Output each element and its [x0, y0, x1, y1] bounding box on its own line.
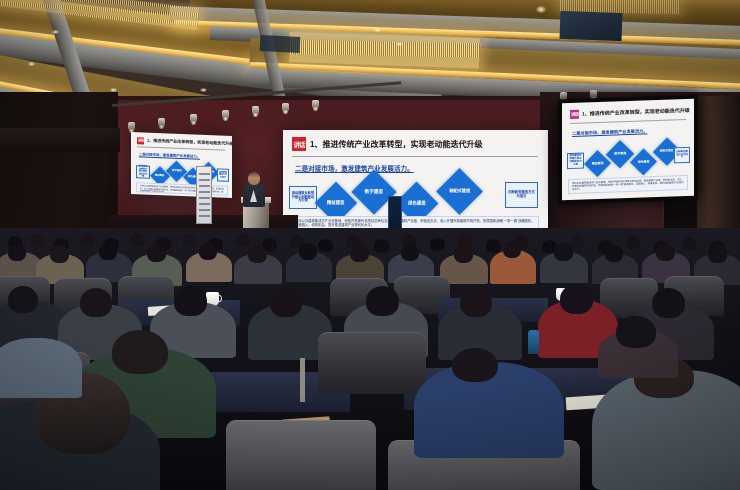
downlight: [536, 6, 546, 13]
slide-subtitle: 二是对接市场，激发建筑产业发展活力。: [295, 163, 414, 173]
slide-badge: 讲话: [292, 137, 306, 151]
conference-hall-photo: 讲话 1、推进传统产业改革转型，实现老动能迭代升级 二是对接市场，激发建筑产业发…: [0, 0, 740, 490]
downlight: [374, 28, 381, 32]
slide-note: 坚持以办建筑集成式产业化基地、积极开拓现代化项目总承包业务、做全建筑产业链、积极…: [568, 175, 688, 194]
downlight: [396, 42, 403, 46]
slide-left-box: 推动建筑业转型升级以创新驱动为引领: [289, 186, 317, 209]
spotlight: [282, 103, 289, 112]
spotlight: [158, 118, 165, 127]
ceiling-vent-panel: [560, 11, 623, 41]
water-bottle: [528, 330, 539, 354]
main-projection-screen: 讲话 1、推进传统产业改革转型，实现老动能迭代升级 二是对接市场，激发建筑产业发…: [283, 130, 548, 238]
slide-badge: 讲话: [137, 137, 144, 144]
slide-title: 1、推进传统产业改革转型，实现老动能迭代升级: [310, 139, 482, 150]
speaker-head: [248, 172, 260, 185]
attendee-head: [112, 330, 168, 374]
left-wall-trim: [0, 128, 120, 152]
slide-subtitle: 二是对接市场，激发建筑产业发展活力。: [139, 151, 200, 158]
side-banner: [196, 166, 212, 224]
slide-right-box: 四种新型建造方式为指引: [674, 147, 690, 164]
spotlight: [312, 100, 319, 109]
slide-diamond-2: 数字建造: [606, 140, 634, 168]
slide-divider: [570, 119, 686, 124]
slide-left-box: 推动建筑业转型升级以创新驱动为引领: [567, 153, 584, 170]
slide-badge: 讲话: [570, 110, 579, 119]
spotlight: [252, 106, 259, 115]
downlight: [52, 30, 59, 34]
slide-right-box: 四种新型建造方式为指引: [505, 182, 538, 208]
left-projection-screen: 讲话 1、推进传统产业改革转型，实现老动能迭代升级 二是对接市场，激发建筑产业发…: [131, 132, 232, 198]
slide-right-box: 四种新型建造方式为指引: [217, 168, 229, 181]
spotlight: [222, 110, 229, 119]
slide-title: 1、推进传统产业改革转型，实现老动能迭代升级: [582, 107, 690, 118]
slide-diamond-4: 装配式建造: [436, 168, 483, 215]
slide-divider: [292, 156, 538, 157]
attendee-head: [616, 316, 656, 348]
microphone-stand: [300, 358, 305, 402]
attendee-head: [452, 348, 498, 382]
slide-subtitle: 二是对接市场，激发建筑产业发展活力。: [572, 128, 647, 137]
slide-title: 1、推进传统产业改革转型，实现老动能迭代升级: [147, 138, 232, 147]
slide-left-box: 推动建筑业转型升级以创新驱动为引领: [136, 165, 150, 179]
spotlight: [128, 122, 135, 131]
downlight: [28, 62, 35, 66]
chair: [318, 332, 426, 394]
right-led-display: 讲话 1、推进传统产业改革转型，实现老动能迭代升级 二是对接市场，激发建筑产业发…: [562, 99, 694, 201]
spotlight: [190, 114, 197, 123]
slide-note: 坚持以办建筑集成式产业化基地、积极开拓现代化项目总承包业务、做全建筑产业链、积极…: [136, 182, 228, 196]
attendee-plaid-shirt: [0, 338, 82, 398]
downlight: [200, 88, 207, 92]
slide-divider: [137, 146, 225, 150]
foreground-chair: [226, 420, 376, 490]
ceiling-vent-panel: [260, 35, 301, 53]
